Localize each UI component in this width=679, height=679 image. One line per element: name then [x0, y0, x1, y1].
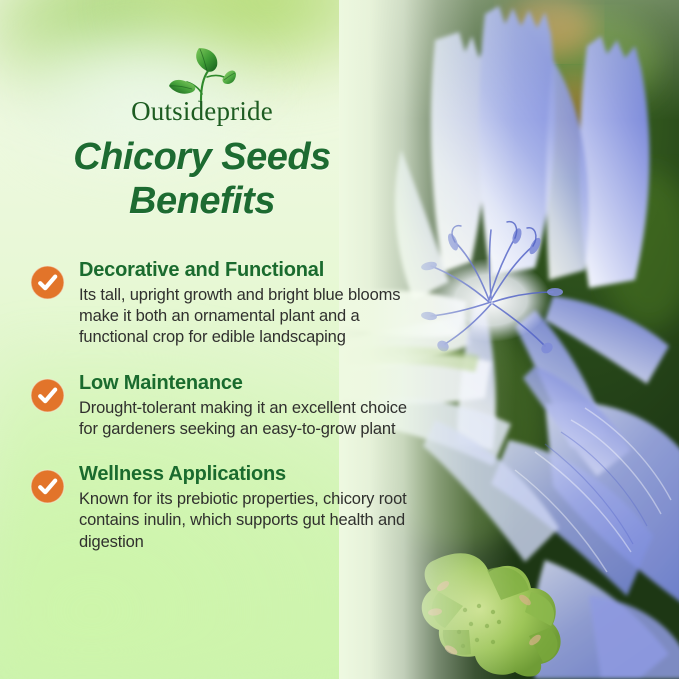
benefit-description: Drought-tolerant making it an excellent … — [79, 398, 408, 441]
page-title-line-1: Chicory Seeds — [0, 136, 404, 180]
page-title-line-2: Benefits — [0, 180, 404, 224]
benefit-title: Decorative and Functional — [79, 259, 408, 283]
three-leaf-sprig-icon — [167, 44, 237, 102]
infographic-card: Outsidepride Chicory Seeds Benefits Deco… — [0, 0, 679, 679]
check-circle-icon — [30, 378, 65, 413]
page-title: Chicory Seeds Benefits — [0, 136, 404, 223]
benefit-text: Wellness Applications Known for its preb… — [79, 462, 408, 553]
benefit-text: Decorative and Functional Its tall, upri… — [79, 258, 408, 349]
benefit-description: Known for its prebiotic properties, chic… — [79, 489, 408, 553]
check-circle-icon — [30, 265, 65, 300]
check-circle-icon — [30, 469, 65, 504]
benefit-title: Wellness Applications — [79, 463, 408, 487]
benefits-list: Decorative and Functional Its tall, upri… — [30, 258, 408, 553]
benefit-text: Low Maintenance Drought-tolerant making … — [79, 371, 408, 440]
benefit-item: Wellness Applications Known for its preb… — [30, 462, 408, 553]
brand-name: Outsidepride — [0, 98, 404, 125]
benefit-title: Low Maintenance — [79, 372, 408, 396]
benefit-item: Decorative and Functional Its tall, upri… — [30, 258, 408, 349]
benefit-description: Its tall, upright growth and bright blue… — [79, 285, 408, 349]
benefit-item: Low Maintenance Drought-tolerant making … — [30, 371, 408, 440]
brand-logo: Outsidepride — [0, 44, 404, 125]
